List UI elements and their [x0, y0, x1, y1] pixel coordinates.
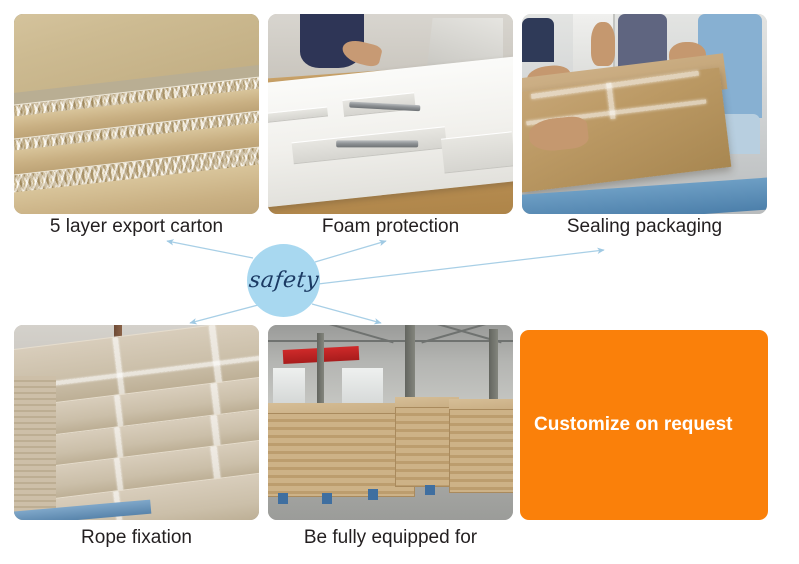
- safety-hub-label: safety: [247, 268, 319, 293]
- panel-rope-fixation[interactable]: [14, 325, 259, 520]
- caption-be-fully-equipped-for: Be fully equipped for: [268, 527, 513, 549]
- panel-foam-protection[interactable]: [268, 14, 513, 214]
- image-foam-protection: [268, 14, 513, 214]
- image-be-fully-equipped-for: [268, 325, 513, 520]
- image-rope-fixation: [14, 325, 259, 520]
- caption-sealing-packaging: Sealing packaging: [522, 216, 767, 238]
- safety-hub: safety: [247, 244, 320, 317]
- caption-foam-protection: Foam protection: [268, 216, 513, 238]
- panel-five-layer-export-carton[interactable]: [14, 14, 259, 214]
- arrow-to-foam-protection: [315, 241, 386, 262]
- arrow-to-rope-fixation: [190, 305, 258, 323]
- worker: [522, 18, 554, 62]
- panel-be-fully-equipped-for[interactable]: [268, 325, 513, 520]
- arrow-to-sealing-packaging: [318, 250, 604, 284]
- caption-rope-fixation: Rope fixation: [14, 527, 259, 549]
- image-sealing-packaging: [522, 14, 767, 214]
- packaging-infographic: 5 layer export carton Foam protecti: [0, 0, 799, 564]
- customize-on-request-label: Customize on request: [534, 414, 732, 436]
- panel-sealing-packaging[interactable]: [522, 14, 767, 214]
- arrow-to-five-layer-export-carton: [167, 241, 253, 258]
- customize-on-request-button[interactable]: Customize on request: [520, 330, 768, 520]
- arrow-to-be-fully-equipped: [312, 304, 381, 323]
- image-five-layer-export-carton: [14, 14, 259, 214]
- caption-five-layer-export-carton: 5 layer export carton: [14, 216, 259, 238]
